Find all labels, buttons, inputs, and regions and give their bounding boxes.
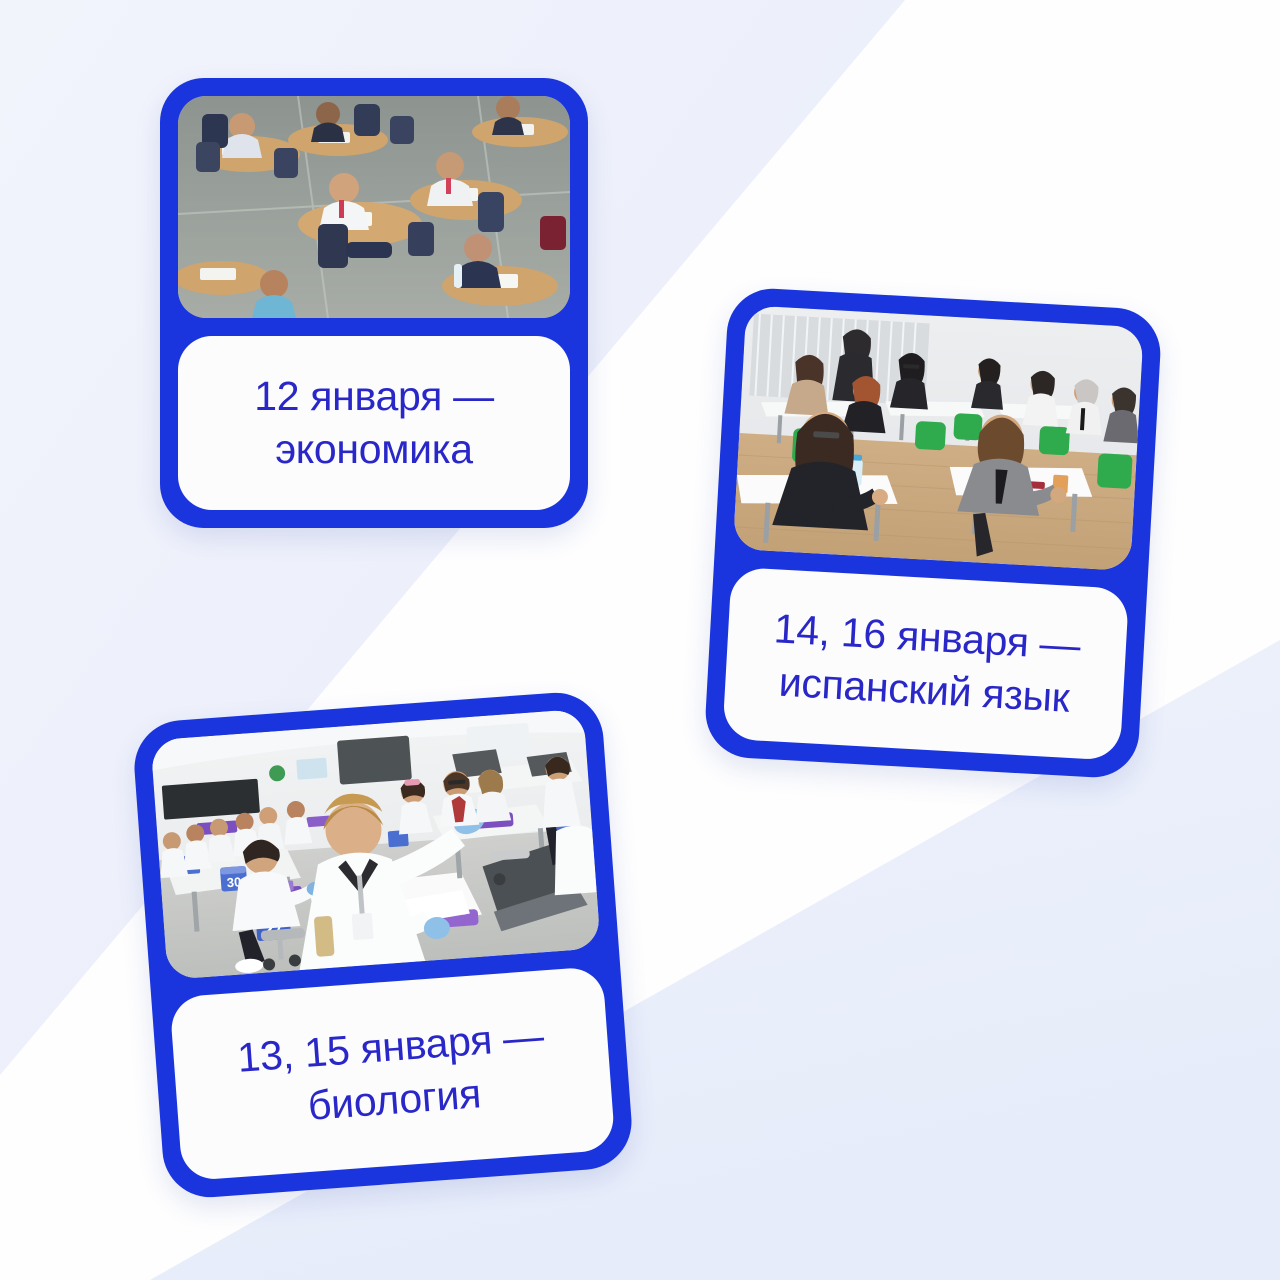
label-box-spanish: 14, 16 января — испанский язык (722, 567, 1129, 761)
card-label-economics: 12 января — экономика (254, 370, 494, 477)
label-box-economics: 12 января — экономика (178, 336, 570, 510)
card-biology[interactable]: 30 27 (131, 689, 635, 1200)
card-label-spanish: 14, 16 января — испанский язык (770, 602, 1082, 726)
photo-biology: 30 27 (150, 709, 600, 980)
card-economics[interactable]: 12 января — экономика (160, 78, 588, 528)
card-label-biology: 13, 15 января — биология (236, 1009, 550, 1138)
card-spanish[interactable]: 14, 16 января — испанский язык (703, 286, 1163, 779)
photo-spanish (733, 305, 1144, 571)
photo-economics (178, 96, 570, 318)
label-box-biology: 13, 15 января — биология (169, 966, 615, 1181)
